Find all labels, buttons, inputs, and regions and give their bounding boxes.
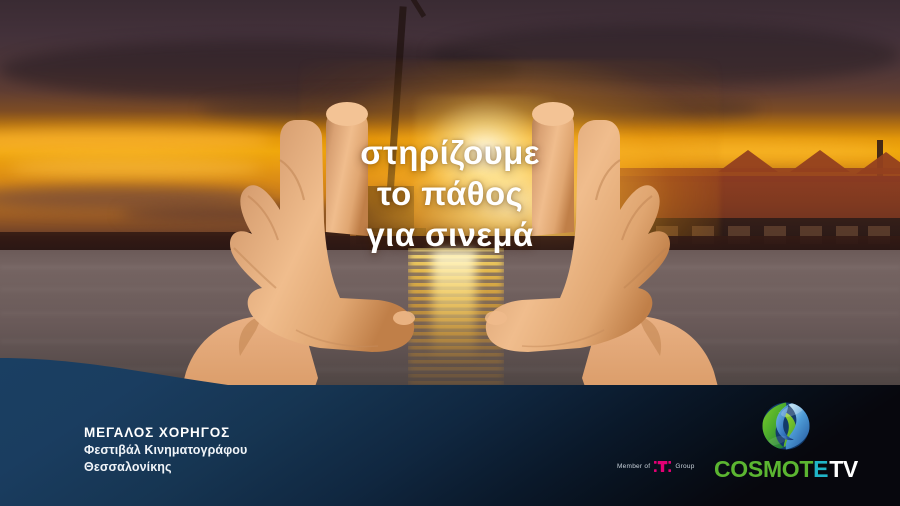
member-of-t-group-lockup: Member of Group	[617, 461, 695, 472]
cosmote-tv-sponsorship-banner: στηρίζουμε το πάθος για σινεμά ΜΕΓΑΛΟΣ Χ…	[0, 0, 900, 506]
festival-name-line-1: Φεστιβάλ Κινηματογράφου	[84, 442, 247, 459]
left-index-tip	[326, 102, 368, 126]
cosmote-tv-wordmark: COSMOTETV	[706, 458, 866, 481]
right-index-finger	[532, 108, 574, 236]
sponsor-credit: ΜΕΓΑΛΟΣ ΧΟΡΗΓΟΣ Φεστιβάλ Κινηματογράφου …	[84, 424, 247, 476]
right-thumb-nail	[485, 311, 507, 325]
right-palm	[486, 120, 670, 352]
right-index-tip	[532, 102, 574, 126]
cosmote-sphere-icon	[758, 398, 814, 454]
sponsor-title: ΜΕΓΑΛΟΣ ΧΟΡΗΓΟΣ	[84, 424, 247, 441]
member-of-label: Member of	[617, 463, 650, 470]
wordmark-cosmot: COSMOT	[714, 456, 813, 482]
left-thumb-nail	[393, 311, 415, 325]
t-mobile-logo-icon	[654, 461, 671, 472]
cosmote-tv-logo: COSMOTETV	[706, 398, 866, 481]
festival-name-line-2: Θεσσαλονίκης	[84, 459, 247, 476]
group-label: Group	[675, 463, 694, 470]
left-index-finger	[326, 108, 368, 236]
wordmark-tv: TV	[829, 456, 858, 482]
left-palm	[230, 120, 414, 352]
wordmark-e: E	[813, 456, 828, 482]
